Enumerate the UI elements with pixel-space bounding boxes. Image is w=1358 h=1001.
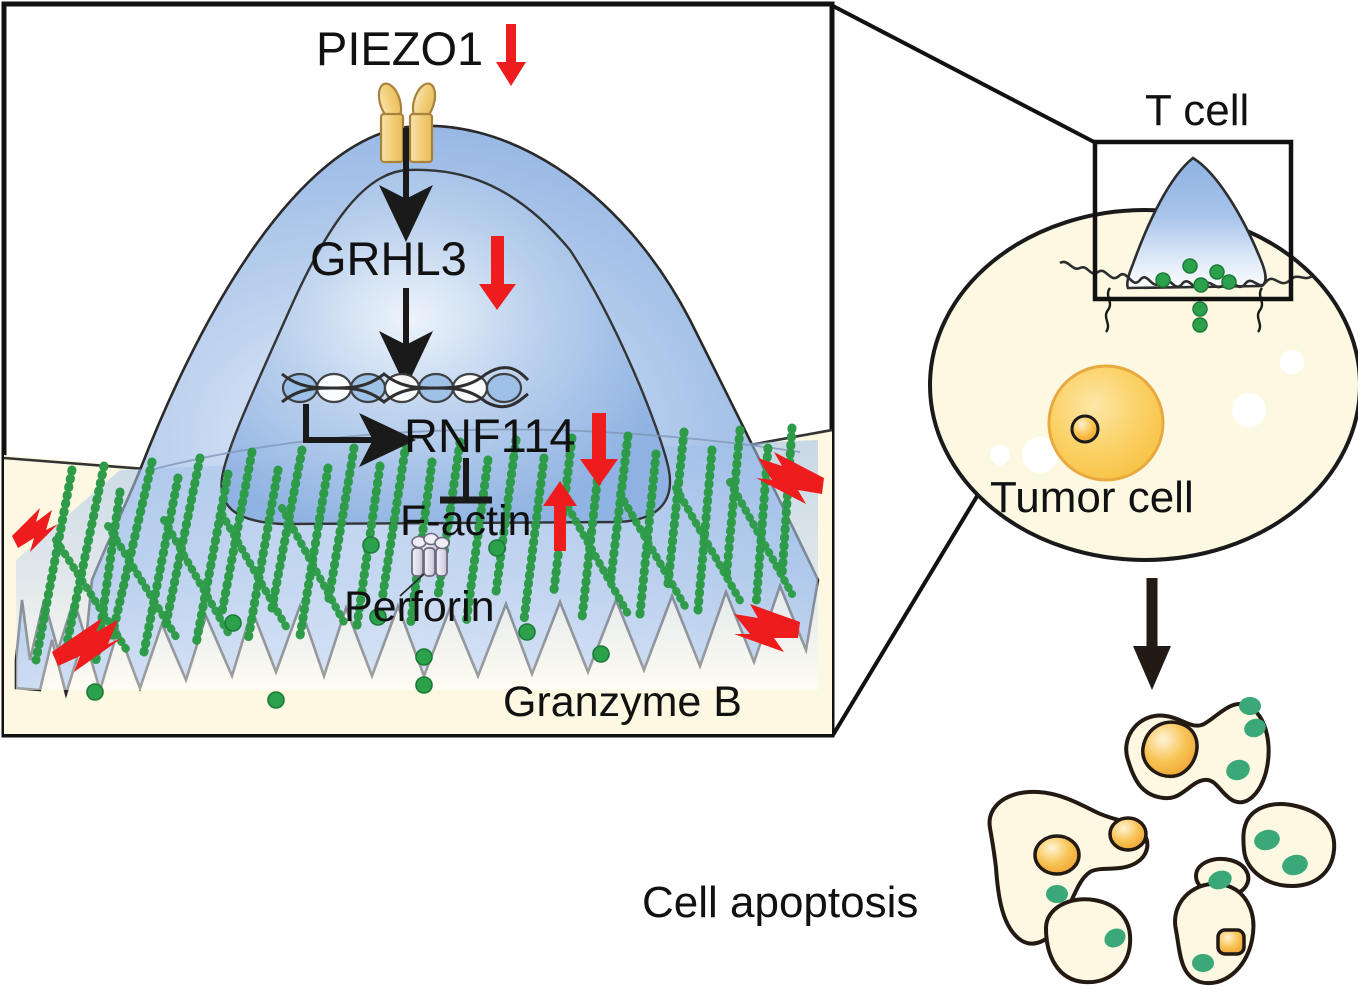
label-factin: F-actin <box>400 497 531 545</box>
label-granzyme-b: Granzyme B <box>503 678 742 726</box>
label-cell-apoptosis: Cell apoptosis <box>642 878 918 927</box>
tumor-cell-nucleus <box>1049 366 1163 480</box>
label-tumor-cell: Tumor cell <box>990 473 1194 522</box>
tumor-cell-nucleolus <box>1072 416 1098 442</box>
label-t-cell: T cell <box>1145 86 1249 135</box>
apoptosis-outcome-arrow <box>1133 578 1171 690</box>
label-grhl3: GRHL3 <box>310 232 467 285</box>
label-rnf114: RNF114 <box>404 409 576 462</box>
label-perforin: Perforin <box>344 583 495 631</box>
pathway-diagram-svg: PIEZO1 GRHL3 RNF114 F-actin Perforin Gra… <box>0 0 1358 1001</box>
figure-root: PIEZO1 GRHL3 RNF114 F-actin Perforin Gra… <box>0 0 1358 1001</box>
left-detail-panel: PIEZO1 GRHL3 RNF114 F-actin Perforin Gra… <box>4 4 832 735</box>
label-piezo1: PIEZO1 <box>316 22 483 75</box>
